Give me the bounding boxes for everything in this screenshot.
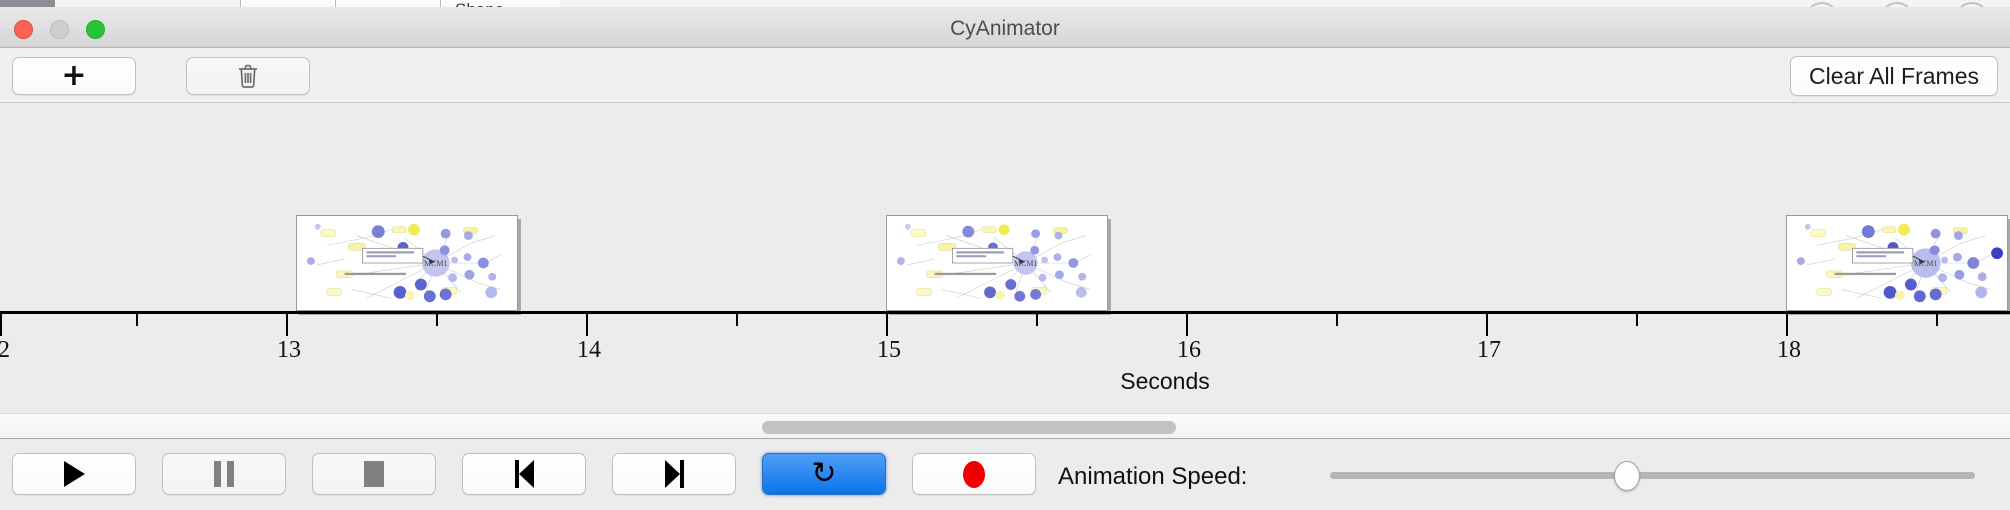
- svg-text:MCM1: MCM1: [1014, 259, 1037, 268]
- timeline-axis-title: Seconds: [0, 368, 2010, 395]
- svg-text:MCM1: MCM1: [1914, 259, 1937, 268]
- animation-speed-label: Animation Speed:: [1058, 463, 1247, 491]
- animation-speed-slider[interactable]: [1330, 472, 1975, 479]
- ruler-tick-major: [286, 314, 288, 336]
- loop-button[interactable]: ↻: [762, 453, 886, 495]
- ruler-tick-label: 17: [1477, 337, 1501, 364]
- trash-icon: [237, 63, 259, 89]
- stop-button[interactable]: [312, 453, 436, 495]
- play-button[interactable]: [12, 453, 136, 495]
- stop-icon: [364, 461, 384, 487]
- next-frame-button[interactable]: [612, 453, 736, 495]
- play-icon: [64, 461, 85, 487]
- scrollbar-thumb[interactable]: [762, 421, 1176, 434]
- ruler-tick-major: [1186, 314, 1188, 336]
- ruler-tick-major: [886, 314, 888, 336]
- ruler-tick-major: [1786, 314, 1788, 336]
- ruler-tick-major: [1486, 314, 1488, 336]
- timeline-ruler[interactable]: 2 13 14 15 16 17 18: [0, 311, 2010, 363]
- add-frame-button[interactable]: +: [12, 57, 136, 95]
- ruler-tick-label: 13: [277, 337, 301, 364]
- window-titlebar: CyAnimator: [0, 7, 2010, 48]
- ruler-tick-label: 16: [1177, 337, 1201, 364]
- svg-text:MCM1: MCM1: [424, 259, 447, 268]
- ruler-tick-minor: [1636, 314, 1638, 326]
- plus-icon: +: [61, 61, 86, 91]
- ruler-tick-major: [586, 314, 588, 336]
- slider-thumb[interactable]: [1614, 461, 1640, 491]
- ruler-tick-minor: [1936, 314, 1938, 326]
- timeline-horizontal-scrollbar[interactable]: [0, 413, 2010, 439]
- axis-title-text: Seconds: [1120, 368, 1210, 394]
- timeline-frame-thumbnail[interactable]: MCM1: [296, 215, 518, 311]
- ruler-tick-minor: [1036, 314, 1038, 326]
- ruler-tick-minor: [436, 314, 438, 326]
- pause-icon: [214, 461, 234, 487]
- ruler-tick-label: 18: [1777, 337, 1801, 364]
- record-icon: [963, 461, 985, 488]
- ruler-tick-label: 2: [0, 337, 10, 364]
- pause-button[interactable]: [162, 453, 286, 495]
- loop-icon: ↻: [811, 459, 836, 489]
- ruler-tick-label: 15: [877, 337, 901, 364]
- ruler-tick-minor: [736, 314, 738, 326]
- timeline-frame-thumbnail[interactable]: MCM1: [886, 215, 1108, 311]
- clear-all-frames-label: Clear All Frames: [1809, 63, 1979, 90]
- ruler-axis-line: [0, 311, 2010, 314]
- timeline-panel[interactable]: MCM1: [0, 103, 2010, 413]
- frame-toolbar: + Clear All Frames: [0, 48, 2010, 103]
- delete-frame-button[interactable]: [186, 57, 310, 95]
- window-title: CyAnimator: [0, 17, 2010, 41]
- ruler-tick-label: 14: [577, 337, 601, 364]
- frame-track[interactable]: MCM1: [0, 103, 2010, 311]
- skip-back-icon: [515, 460, 534, 488]
- record-button[interactable]: [912, 453, 1036, 495]
- ruler-tick-minor: [1336, 314, 1338, 326]
- clear-all-frames-button[interactable]: Clear All Frames: [1790, 56, 1998, 96]
- previous-frame-button[interactable]: [462, 453, 586, 495]
- skip-forward-icon: [665, 460, 684, 488]
- ruler-tick-major: [0, 314, 2, 336]
- playback-toolbar: ↻ Animation Speed:: [0, 439, 2010, 507]
- ruler-tick-minor: [136, 314, 138, 326]
- timeline-frame-thumbnail[interactable]: MCM1: [1786, 215, 2008, 311]
- cyanimator-window: CyAnimator + Clear All Frames: [0, 7, 2010, 510]
